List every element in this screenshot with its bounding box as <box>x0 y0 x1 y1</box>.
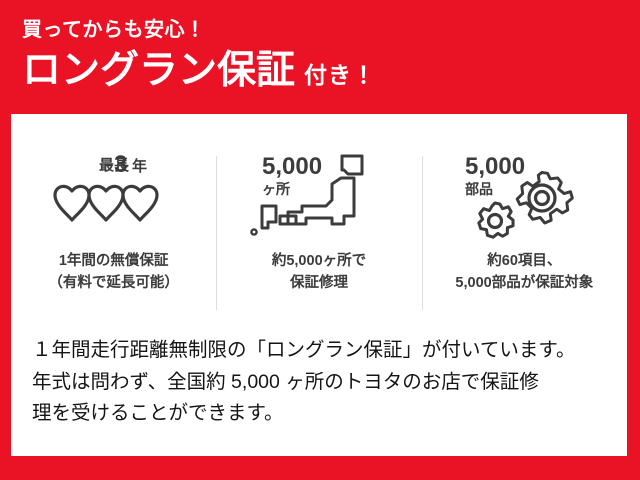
long-run-warranty-banner: 買ってからも安心！ ロングラン保証 付き！ 最長 3 年 <box>0 0 640 480</box>
description-line-1: １年間走行距離無制限の「ロングラン保証」が付いています。 <box>32 335 618 367</box>
feature-columns: 最長 3 年 1年間の無償保証 （有料で延長可能） <box>11 150 627 314</box>
description-paragraph: １年間走行距離無制限の「ロングラン保証」が付いています。 年式は問わず、全国約 … <box>32 335 618 430</box>
header-title-suffix: 付き！ <box>304 64 376 87</box>
header-title-row: ロングラン保証 付き！ <box>22 51 640 90</box>
header-title-main: ロングラン保証 <box>22 51 295 90</box>
content-card: 最長 3 年 1年間の無償保証 （有料で延長可能） <box>11 114 627 456</box>
three-hearts-icon-area: 最長 3 年 <box>11 150 216 250</box>
gears-icon-area: 5,000 部品 <box>422 150 627 250</box>
description-line-3: 理を受けることができます。 <box>32 398 618 430</box>
heart-icon-1 <box>55 186 89 220</box>
feature-caption: 約60項目、 5,000部品が保証対象 <box>455 250 593 294</box>
heart-icon-3 <box>123 186 157 220</box>
description-line-2: 年式は問わず、全国約 5,000 ヶ所のトヨタのお店で保証修 <box>32 367 618 399</box>
feature-caption: 約5,000ヶ所で 保証修理 <box>272 250 366 294</box>
feature-caption-line1: 約5,000ヶ所で <box>272 250 366 272</box>
feature-headline-number: 5,000 <box>465 153 525 180</box>
japan-honshu-shape <box>288 178 354 224</box>
feature-headline-unit: ヶ所 <box>262 181 290 197</box>
japan-hokkaido-shape <box>342 156 362 174</box>
japan-map-icon: 5,000 ヶ所 <box>244 150 394 246</box>
feature-caption-line1: 1年間の無償保証 <box>48 250 179 272</box>
feature-headline-number: 5,000 <box>262 153 322 180</box>
japan-okinawa-dot <box>251 229 256 234</box>
feature-warranty-term: 最長 3 年 1年間の無償保証 （有料で延長可能） <box>11 150 216 314</box>
gear-small-icon <box>479 203 513 237</box>
three-hearts-icon: 最長 3 年 <box>39 150 189 246</box>
japan-kyushu-shape <box>262 206 276 228</box>
header-subtitle: 買ってからも安心！ <box>22 20 640 40</box>
feature-headline-unit: 部品 <box>465 181 493 197</box>
feature-covered-parts: 5,000 部品 <box>422 150 627 314</box>
feature-service-locations: 5,000 ヶ所 約5,000ヶ所で <box>216 150 421 314</box>
feature-headline-unit: 年 <box>132 157 147 175</box>
banner-header: 買ってからも安心！ ロングラン保証 付き！ <box>0 0 640 114</box>
gear-large-icon <box>517 172 572 223</box>
feature-caption-line2: （有料で延長可能） <box>48 272 179 294</box>
feature-caption-line1: 約60項目、 <box>455 250 593 272</box>
heart-icon-2 <box>89 186 123 220</box>
feature-caption-line2: 保証修理 <box>272 272 366 294</box>
japan-map-icon-area: 5,000 ヶ所 <box>216 150 421 250</box>
feature-headline-number: 3 <box>114 151 127 178</box>
gears-icon: 5,000 部品 <box>449 150 599 246</box>
feature-caption-line2: 5,000部品が保証対象 <box>455 272 593 294</box>
feature-caption: 1年間の無償保証 （有料で延長可能） <box>48 250 179 294</box>
